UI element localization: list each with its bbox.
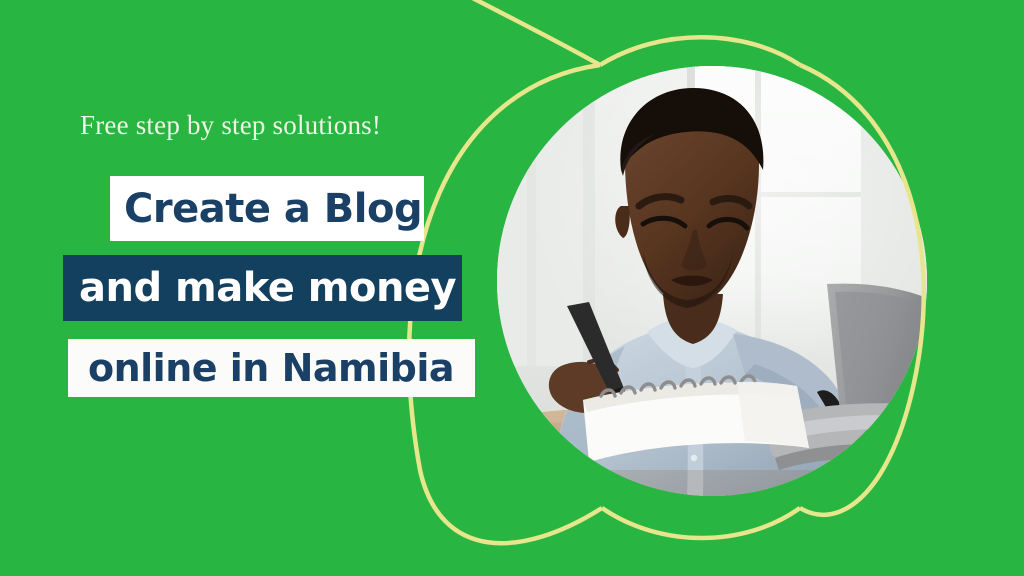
headline-line-1: Create a Blog	[110, 176, 424, 241]
headline-line-2: and make money	[63, 255, 462, 321]
headline-line-3: online in Namibia	[68, 339, 475, 397]
arc-top-bridge	[600, 37, 800, 65]
photo-circle	[497, 66, 927, 496]
arc-bottom-bridge	[602, 508, 800, 538]
man-working-on-laptop-photo	[497, 66, 927, 496]
arc-left-upper	[352, 0, 600, 65]
banner-canvas: Free step by step solutions! Create a Bl…	[0, 0, 1024, 576]
kicker-text: Free step by step solutions!	[80, 108, 381, 142]
